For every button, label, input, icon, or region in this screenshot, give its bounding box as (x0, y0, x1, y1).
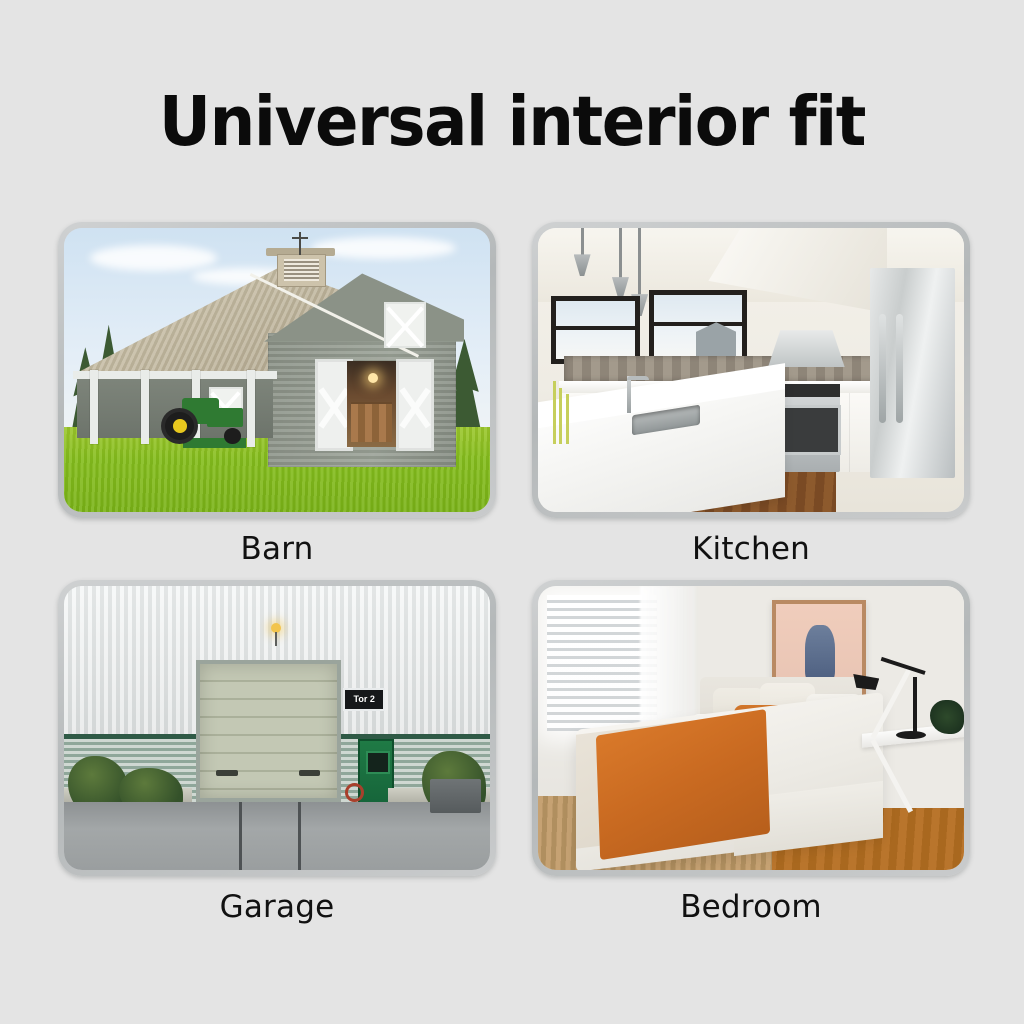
pendant-light (619, 228, 622, 279)
barn-light-icon (368, 373, 378, 383)
refrigerator (870, 268, 955, 478)
image-frame-garage: Tor 2 (58, 580, 496, 876)
image-frame-barn (58, 222, 496, 518)
pendant-light (638, 228, 641, 296)
hose-coil (345, 783, 364, 802)
door-number-sign: Tor 2 (343, 688, 385, 710)
card-caption-garage: Garage (58, 890, 496, 924)
card-caption-barn: Barn (58, 532, 496, 566)
card-bedroom[interactable]: Bedroom (532, 580, 970, 938)
photo-kitchen (538, 228, 964, 512)
kitchen-window-right (649, 290, 747, 364)
lamp-base (896, 731, 926, 739)
kitchen-window-left (551, 296, 640, 364)
weathervane-icon (299, 232, 301, 255)
barn-interior-wood (351, 402, 392, 441)
barn-post (141, 370, 149, 444)
card-kitchen[interactable]: Kitchen (532, 222, 970, 580)
barn-door-right (396, 359, 434, 451)
tractor (158, 398, 243, 443)
page-title: Universal interior fit (36, 88, 988, 157)
barn-post (90, 370, 98, 444)
cloud-icon (90, 245, 218, 271)
photo-bedroom (538, 586, 964, 870)
promo-page: Universal interior fit (0, 0, 1024, 1024)
range-hood (768, 330, 845, 367)
card-caption-bedroom: Bedroom (532, 890, 970, 924)
image-grid: Barn (58, 222, 970, 938)
artwork-figure (805, 625, 834, 683)
photo-garage: Tor 2 (64, 586, 490, 870)
plant (930, 700, 964, 734)
cupola (277, 254, 326, 287)
card-caption-kitchen: Kitchen (532, 532, 970, 566)
rail-track (239, 802, 242, 870)
kitchen-vase (551, 381, 572, 443)
side-table-legs (875, 739, 956, 819)
garage-apron (64, 802, 490, 870)
image-frame-bedroom (532, 580, 970, 876)
card-barn[interactable]: Barn (58, 222, 496, 580)
barn-loft-window (384, 302, 426, 349)
pendant-light (581, 228, 584, 256)
barn-open-bay (347, 361, 396, 446)
wall-lamp-icon (271, 623, 281, 633)
overhead-door-frame (196, 660, 341, 802)
overhead-door (200, 664, 337, 798)
lamp-stem (913, 677, 917, 734)
dumpster (430, 779, 481, 813)
card-garage[interactable]: Tor 2 Garage (58, 580, 496, 938)
barn-post (247, 370, 255, 447)
rail-track (298, 802, 301, 870)
kitchen-faucet (627, 376, 631, 413)
image-frame-kitchen (532, 222, 970, 518)
photo-barn (64, 228, 490, 512)
